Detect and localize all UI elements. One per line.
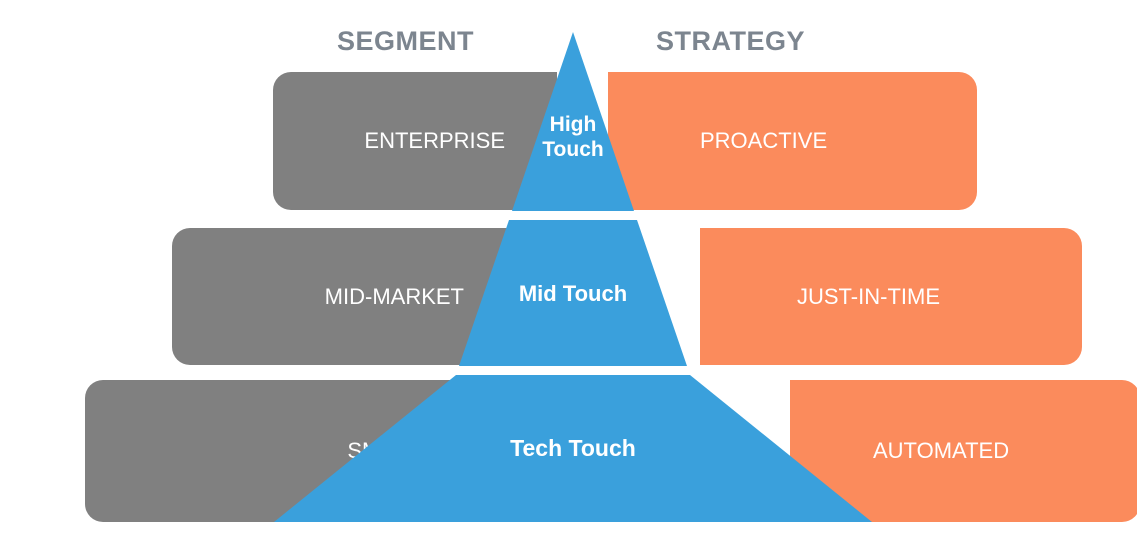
strategy-panel-just-in-time[interactable]: JUST-IN-TIME xyxy=(700,228,1082,365)
pyramid-diagram: SEGMENT STRATEGY ENTERPRISE MID-MARKET S… xyxy=(0,0,1137,546)
strategy-panel-label: JUST-IN-TIME xyxy=(797,284,940,310)
segment-panel-enterprise[interactable]: ENTERPRISE xyxy=(273,72,557,210)
strategy-column-header: STRATEGY xyxy=(656,26,805,57)
strategy-panel-label: PROACTIVE xyxy=(700,128,827,154)
segment-panel-label: MID-MARKET xyxy=(325,284,464,310)
segment-panel-label: ENTERPRISE xyxy=(364,128,505,154)
strategy-panel-label: AUTOMATED xyxy=(873,438,1009,464)
strategy-panel-proactive[interactable]: PROACTIVE xyxy=(608,72,977,210)
segment-column-header: SEGMENT xyxy=(337,26,474,57)
